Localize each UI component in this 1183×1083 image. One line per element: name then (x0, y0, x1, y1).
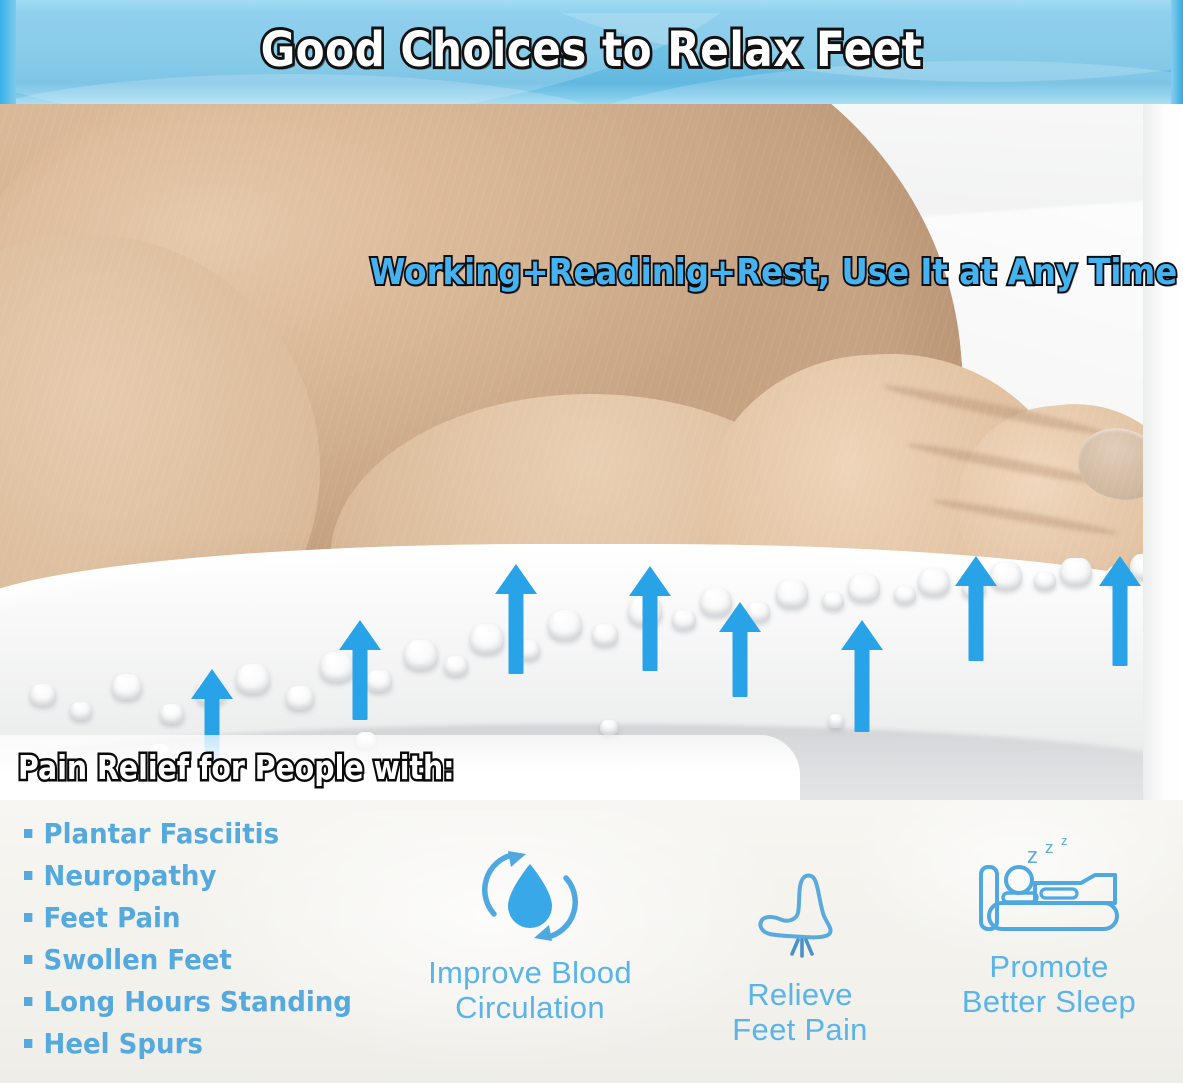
massage-nub (112, 674, 142, 700)
benefit-label-line1: Improve Blood (380, 956, 680, 991)
massage-nub (822, 592, 844, 610)
pressure-arrow-icon (495, 564, 537, 674)
massage-nub (160, 704, 184, 724)
condition-list-item: Neuropathy (24, 854, 359, 896)
pressure-arrow-icon (1099, 556, 1141, 666)
pressure-arrow-icon (629, 566, 671, 671)
condition-label: Feet Pain (44, 901, 181, 934)
condition-list-item: Feet Pain (24, 896, 359, 938)
massage-nub (286, 686, 314, 710)
banner-wave-decor (0, 74, 640, 104)
hero-subtitle: Working+Readinig+Rest, Use It at Any Tim… (369, 252, 1177, 293)
massage-nub (1034, 572, 1056, 590)
benefit-relieve-pain: Relieve Feet Pain (680, 858, 920, 1047)
condition-label: Plantar Fasciitis (44, 817, 280, 850)
sleeping-person-bed-icon: z z z (904, 830, 1183, 950)
massage-nub (444, 656, 468, 676)
bullet-square-icon (24, 997, 32, 1006)
massage-nub (404, 640, 438, 670)
benefit-label-line2: Feet Pain (680, 1013, 920, 1048)
massage-nub (30, 684, 56, 706)
benefits-panel: Plantar FasciitisNeuropathyFeet PainSwol… (0, 800, 1183, 1083)
massage-nub (672, 610, 696, 630)
hero-photo: Working+Readinig+Rest, Use It at Any Tim… (0, 104, 1183, 800)
massage-nub (918, 568, 950, 596)
massage-nub (592, 624, 618, 646)
massage-nub (548, 610, 582, 640)
massage-nub (236, 664, 270, 694)
bullet-square-icon (24, 1039, 32, 1048)
massage-nub (894, 586, 916, 604)
bullet-square-icon (24, 829, 32, 838)
condition-label: Neuropathy (44, 859, 217, 892)
benefit-label-line1: Promote (904, 950, 1183, 985)
bullet-square-icon (24, 955, 32, 964)
benefit-label-line2: Better Sleep (904, 985, 1183, 1020)
zzz-small: z (1027, 843, 1038, 868)
photo-right-margin (1143, 104, 1183, 800)
banner-top-highlight (0, 0, 1183, 13)
condition-list-item: Plantar Fasciitis (24, 812, 359, 854)
banner-left-edge (0, 0, 16, 104)
condition-list-item: Long Hours Standing (24, 980, 359, 1022)
bullet-square-icon (24, 913, 32, 922)
benefit-icons: Improve Blood Circulation Relieve Feet (380, 800, 1183, 1083)
condition-list-item: Heel Spurs (24, 1022, 359, 1064)
benefit-label-line2: Circulation (380, 991, 680, 1026)
pressure-arrow-icon (841, 620, 883, 732)
condition-label: Long Hours Standing (44, 985, 352, 1018)
massage-nub (776, 580, 808, 608)
zzz-smallest: z (1061, 833, 1068, 848)
massage-nub (1060, 558, 1092, 586)
condition-label: Heel Spurs (44, 1027, 203, 1060)
bullet-square-icon (24, 871, 32, 880)
header-banner: Good Choices to Relax Feet (0, 0, 1183, 104)
pressure-arrow-icon (719, 602, 761, 697)
benefit-better-sleep: z z z Promote Better Sleep (904, 830, 1183, 1019)
condition-list: Plantar FasciitisNeuropathyFeet PainSwol… (24, 812, 384, 1064)
massage-nub (848, 574, 880, 602)
water-drop-circulation-icon (380, 836, 680, 956)
pressure-arrow-icon (955, 556, 997, 661)
benefit-label-line1: Relieve (680, 978, 920, 1013)
condition-list-item: Swollen Feet (24, 938, 359, 980)
massage-nub (70, 702, 92, 720)
massage-nub (600, 720, 618, 735)
pressure-arrow-icon (339, 620, 381, 720)
benefit-improve-circulation: Improve Blood Circulation (380, 836, 680, 1025)
relief-heading: Pain Relief for People with: (18, 748, 455, 787)
condition-label: Swollen Feet (44, 943, 232, 976)
product-infographic: Good Choices to Relax Feet (0, 0, 1183, 1083)
foot-pain-icon (680, 858, 920, 978)
banner-title: Good Choices to Relax Feet (71, 22, 1112, 78)
banner-right-edge (1171, 0, 1183, 104)
zzz-smaller: z (1045, 838, 1054, 857)
